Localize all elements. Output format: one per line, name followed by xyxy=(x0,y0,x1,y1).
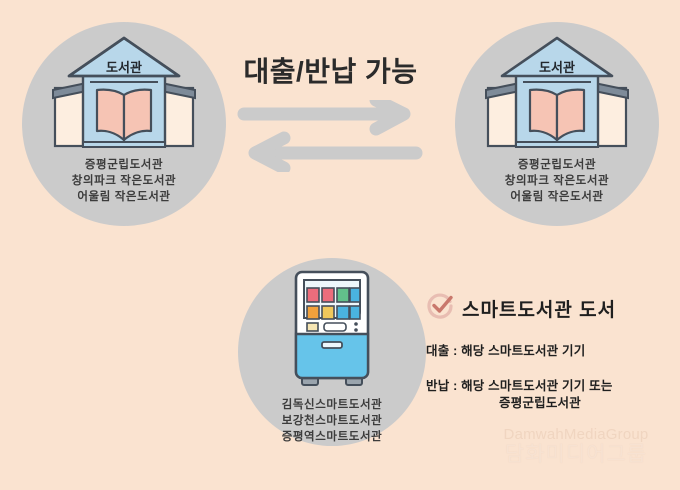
arrow-left-icon xyxy=(255,138,416,168)
smart-library-loan-line: 대출 : 해당 스마트도서관 기기 xyxy=(426,343,676,360)
smart-library-info-block: 스마트도서관 도서 대출 : 해당 스마트도서관 기기 반납 : 해당 스마트도… xyxy=(426,292,676,412)
check-circle-icon xyxy=(426,292,454,325)
library-sign-label: 도서관 xyxy=(539,60,575,75)
smart-library-circle: 김독신스마트도서관 보강천스마트도서관 증평역스마트도서관 xyxy=(238,258,426,446)
library-circle-left: 도서관 증평군립도서관 창의파크 작은도서관 어울림 작은도서관 xyxy=(22,22,226,226)
caption-line: 창의파크 작은도서관 xyxy=(72,173,176,189)
caption-line: 어울림 작은도서관 xyxy=(505,189,609,205)
library-building-icon: 도서관 xyxy=(49,32,199,155)
caption-line: 김독신스마트도서관 xyxy=(282,397,383,413)
caption-line: 증평군립도서관 xyxy=(505,157,609,173)
smart-library-return-line: 반납 : 해당 스마트도서관 기기 또는 증평군립도서관 xyxy=(426,378,676,412)
caption-line: 증평역스마트도서관 xyxy=(282,429,383,445)
exchange-arrows xyxy=(232,100,428,177)
smart-library-circle-captions: 김독신스마트도서관 보강천스마트도서관 증평역스마트도서관 xyxy=(282,397,383,445)
caption-line: 어울림 작은도서관 xyxy=(72,189,176,205)
library-circle-right: 도서관 증평군립도서관 창의파크 작은도서관 어울림 작은도서관 xyxy=(455,22,659,226)
watermark-english: DamwahMediaGroup xyxy=(488,426,664,443)
smart-library-info-heading-row: 스마트도서관 도서 xyxy=(426,292,676,325)
return-text-second-line: 증평군립도서관 xyxy=(426,395,676,412)
return-text: 반납 : 해당 스마트도서관 기기 또는 xyxy=(426,379,613,393)
vending-machine-icon xyxy=(286,268,378,395)
caption-line: 창의파크 작은도서관 xyxy=(505,173,609,189)
watermark: DamwahMediaGroup 담화미디어그룹 xyxy=(488,426,664,467)
caption-line: 보강천스마트도서관 xyxy=(282,413,383,429)
caption-line: 증평군립도서관 xyxy=(72,157,176,173)
library-building-icon: 도서관 xyxy=(482,32,632,155)
page-title: 대출/반납 가능 xyxy=(228,50,433,90)
arrow-right-icon xyxy=(244,100,404,129)
infographic-canvas: 도서관 증평군립도서관 창의파크 작은도서관 어울림 작은도서관 대출/반납 가… xyxy=(0,0,680,490)
library-circle-left-captions: 증평군립도서관 창의파크 작은도서관 어울림 작은도서관 xyxy=(72,157,176,205)
loan-text: 대출 : 해당 스마트도서관 기기 xyxy=(426,344,585,358)
watermark-korean: 담화미디어그룹 xyxy=(488,443,664,467)
library-circle-right-captions: 증평군립도서관 창의파크 작은도서관 어울림 작은도서관 xyxy=(505,157,609,205)
library-sign-label: 도서관 xyxy=(106,60,142,75)
smart-library-info-title: 스마트도서관 도서 xyxy=(462,295,616,322)
